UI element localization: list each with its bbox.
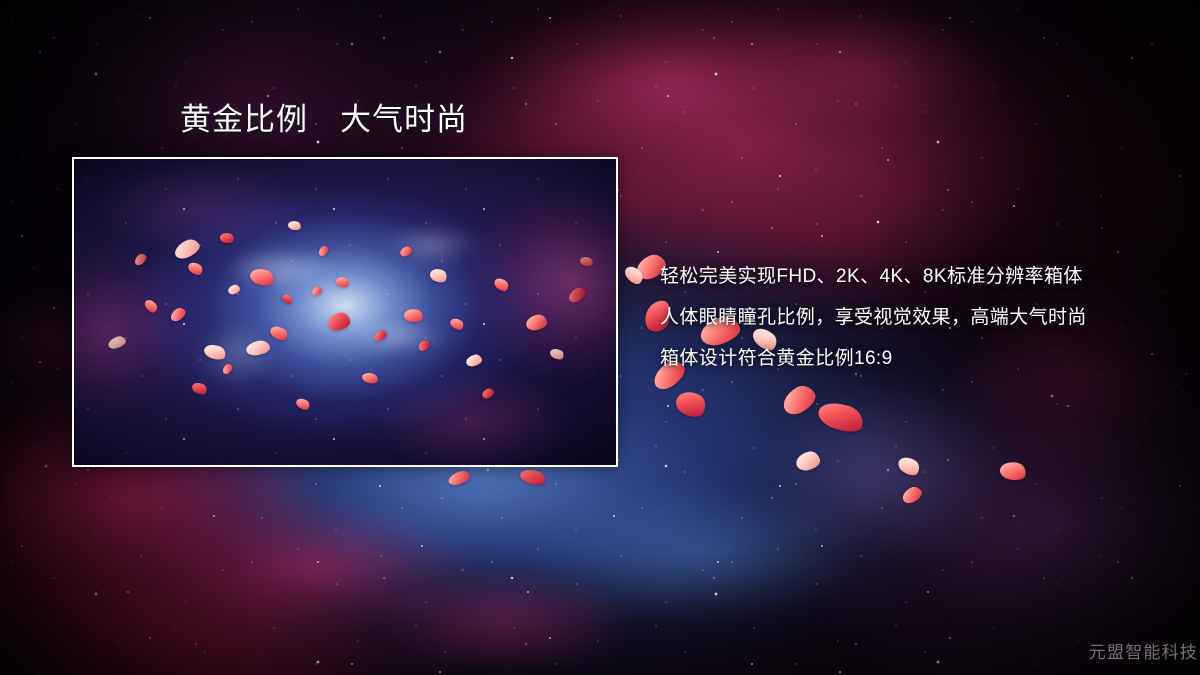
- flower-petal: [294, 396, 311, 412]
- flower-petal: [186, 260, 205, 278]
- flower-petal: [245, 339, 271, 356]
- body-text-block: 轻松完美实现FHD、2K、4K、8K标准分辨率箱体 人体眼睛瞳孔比例，享受视觉效…: [660, 256, 1160, 379]
- flower-petal: [895, 453, 922, 479]
- flower-petal: [778, 381, 819, 419]
- watermark: 元盟智能科技: [1089, 638, 1198, 663]
- body-line-1: 轻松完美实现FHD、2K、4K、8K标准分辨率箱体: [660, 256, 1160, 297]
- flower-petal: [227, 284, 241, 296]
- flower-petal: [172, 236, 202, 261]
- flower-petal: [525, 313, 548, 331]
- framed-photo: [72, 157, 618, 467]
- flower-petal: [219, 232, 235, 245]
- flower-petal: [287, 220, 302, 232]
- flower-petal: [311, 285, 324, 297]
- flower-petal: [221, 362, 234, 375]
- flower-petal: [549, 346, 566, 361]
- flower-petal: [566, 285, 588, 305]
- flower-petal: [361, 371, 379, 385]
- flower-petal: [815, 397, 867, 437]
- body-line-2: 人体眼睛瞳孔比例，享受视觉效果，高端大气时尚: [660, 297, 1160, 338]
- flower-petal: [428, 266, 449, 285]
- flower-petal: [107, 334, 128, 350]
- flower-petal: [481, 387, 496, 400]
- flower-petal: [202, 342, 227, 363]
- flower-petal: [168, 305, 187, 323]
- flower-petal: [794, 450, 821, 473]
- flower-petal: [281, 292, 294, 305]
- photo-starfield: [74, 159, 616, 465]
- body-line-3: 箱体设计符合黄金比例16:9: [660, 338, 1160, 379]
- flower-petal: [622, 263, 646, 287]
- flower-petal: [403, 307, 424, 323]
- flower-petal: [465, 353, 483, 368]
- flower-petal: [373, 329, 389, 343]
- flower-petal: [900, 484, 924, 505]
- flower-petal: [399, 245, 413, 258]
- flower-petal: [133, 252, 149, 267]
- flower-petal: [335, 275, 351, 289]
- flower-petal: [326, 311, 351, 332]
- flower-petal: [268, 323, 290, 342]
- flower-petal: [143, 297, 159, 314]
- photo-nebula-wisps: [74, 159, 616, 465]
- flower-petal: [417, 338, 432, 352]
- flower-petal: [579, 255, 594, 268]
- flower-petal: [672, 386, 710, 421]
- flower-petal: [190, 380, 208, 397]
- photo-nebula-background: [74, 159, 616, 465]
- flower-petal: [519, 467, 548, 488]
- photo-petals-overlay: [74, 159, 616, 465]
- flower-petal: [998, 459, 1027, 482]
- flower-petal: [248, 266, 276, 289]
- photo-vignette: [74, 159, 616, 465]
- presentation-slide: 黄金比例 大气时尚 轻松完美实现FHD、2K、4K、8K标准分辨率箱体 人体眼睛…: [0, 0, 1200, 675]
- flower-petal: [448, 316, 465, 332]
- flower-petal: [492, 275, 511, 293]
- flower-petal: [317, 244, 330, 257]
- flower-petal: [447, 469, 472, 487]
- slide-title: 黄金比例 大气时尚: [180, 101, 468, 140]
